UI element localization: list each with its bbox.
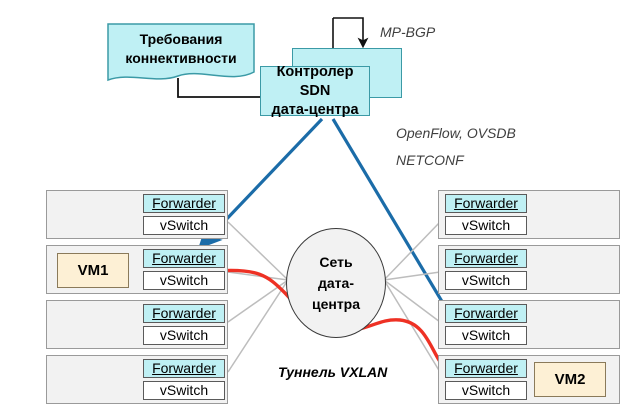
controller-line-1: Контролер SDN — [261, 63, 369, 101]
cloud-line-1: Сеть — [319, 252, 352, 273]
southbound-protocols-line-1: OpenFlow, OVSDB — [396, 125, 516, 141]
network-diagram-canvas: Требования коннективности MP-BGP Контрол… — [0, 0, 640, 409]
vswitch-right-4[interactable]: vSwitch — [445, 381, 527, 400]
mp-bgp-hook-top — [333, 18, 363, 46]
left-host-row-3[interactable]: Forwarder vSwitch — [46, 300, 228, 349]
controller-line-2: дата-центра — [271, 101, 358, 120]
forwarder-right-1[interactable]: Forwarder — [445, 194, 527, 213]
forwarder-right-3[interactable]: Forwarder — [445, 304, 527, 323]
vswitch-left-3[interactable]: vSwitch — [143, 326, 225, 345]
requirements-callout: Требования коннективности — [108, 22, 254, 84]
vm-vm1[interactable]: VM1 — [57, 253, 129, 288]
forwarder-left-1[interactable]: Forwarder — [143, 194, 225, 213]
datacenter-network-cloud: Сеть дата- центра — [286, 228, 386, 338]
cloud-line-3: центра — [312, 294, 360, 315]
mp-bgp-label: MP-BGP — [380, 24, 435, 40]
requirements-line-1: Требования — [108, 30, 254, 49]
forwarder-right-4[interactable]: Forwarder — [445, 359, 527, 378]
requirements-callout-text: Требования коннективности — [108, 30, 254, 68]
right-host-row-1[interactable]: Forwarder vSwitch — [438, 190, 620, 239]
forwarder-left-3[interactable]: Forwarder — [143, 304, 225, 323]
sdn-controller-box[interactable]: Контролер SDN дата-центра — [260, 66, 370, 116]
right-host-row-2[interactable]: Forwarder vSwitch — [438, 245, 620, 294]
vm-vm2[interactable]: VM2 — [534, 362, 606, 397]
right-host-row-3[interactable]: Forwarder vSwitch — [438, 300, 620, 349]
left-host-row-2[interactable]: VM1 Forwarder vSwitch — [46, 245, 228, 294]
vswitch-right-2[interactable]: vSwitch — [445, 271, 527, 290]
left-host-links — [228, 222, 288, 372]
cloud-line-2: дата- — [318, 273, 354, 294]
vswitch-left-2[interactable]: vSwitch — [143, 271, 225, 290]
forwarder-left-2[interactable]: Forwarder — [143, 249, 225, 268]
forwarder-left-4[interactable]: Forwarder — [143, 359, 225, 378]
vswitch-right-1[interactable]: vSwitch — [445, 216, 527, 235]
forwarder-right-2[interactable]: Forwarder — [445, 249, 527, 268]
requirements-line-2: коннективности — [108, 49, 254, 68]
southbound-protocols-line-2: NETCONF — [396, 152, 464, 168]
vxlan-tunnel-label: Туннель VXLAN — [278, 364, 387, 380]
left-host-row-4[interactable]: Forwarder vSwitch — [46, 355, 228, 404]
vswitch-left-1[interactable]: vSwitch — [143, 216, 225, 235]
left-host-row-1[interactable]: Forwarder vSwitch — [46, 190, 228, 239]
vswitch-right-3[interactable]: vSwitch — [445, 326, 527, 345]
vswitch-left-4[interactable]: vSwitch — [143, 381, 225, 400]
